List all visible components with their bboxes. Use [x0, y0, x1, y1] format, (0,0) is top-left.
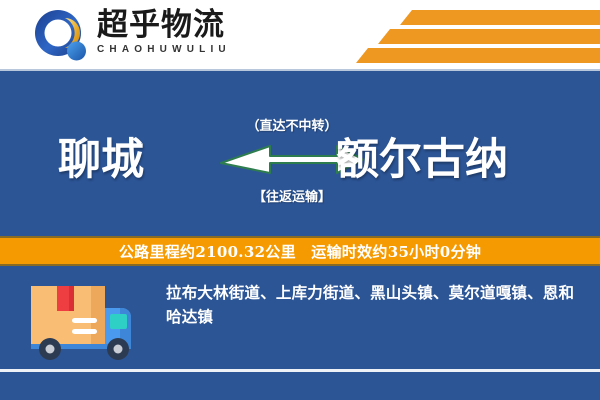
header-stripe-3	[356, 48, 600, 63]
header-stripe-1	[400, 10, 600, 25]
brand-block: 超乎物流 CHAOHUWULIU	[97, 8, 267, 55]
bottom-divider	[0, 369, 600, 372]
direct-route-note: （直达不中转）	[222, 115, 362, 134]
header-stripe-2	[378, 29, 600, 44]
destination-city-label: 额尔古纳	[336, 136, 508, 184]
brand-name-en: CHAOHUWULIU	[97, 44, 267, 55]
coverage-areas-text: 拉布大林街道、上库力街道、黑山头镇、莫尔道嘎镇、恩和哈达镇	[166, 281, 582, 329]
route-row: 聊城 （直达不中转） 【往返运输】 额尔古纳	[0, 104, 600, 214]
logistics-route-poster: 超乎物流 CHAOHUWULIU 聊城 （直达不中转） 【往返运输】	[0, 0, 600, 400]
delivery-truck-icon	[26, 278, 144, 362]
distance-duration-bar: 公路里程约2100.32公里 运输时效约35小时0分钟	[0, 236, 600, 266]
poster-header: 超乎物流 CHAOHUWULIU	[0, 0, 600, 71]
header-stripes-decoration	[338, 8, 600, 66]
circle-crescent-logo-icon	[34, 9, 90, 63]
distance-duration-text: 公路里程约2100.32公里 运输时效约35小时0分钟	[119, 241, 481, 262]
round-trip-note: 【往返运输】	[222, 186, 362, 205]
brand-name-cn: 超乎物流	[97, 8, 267, 42]
origin-city-label: 聊城	[58, 136, 144, 184]
